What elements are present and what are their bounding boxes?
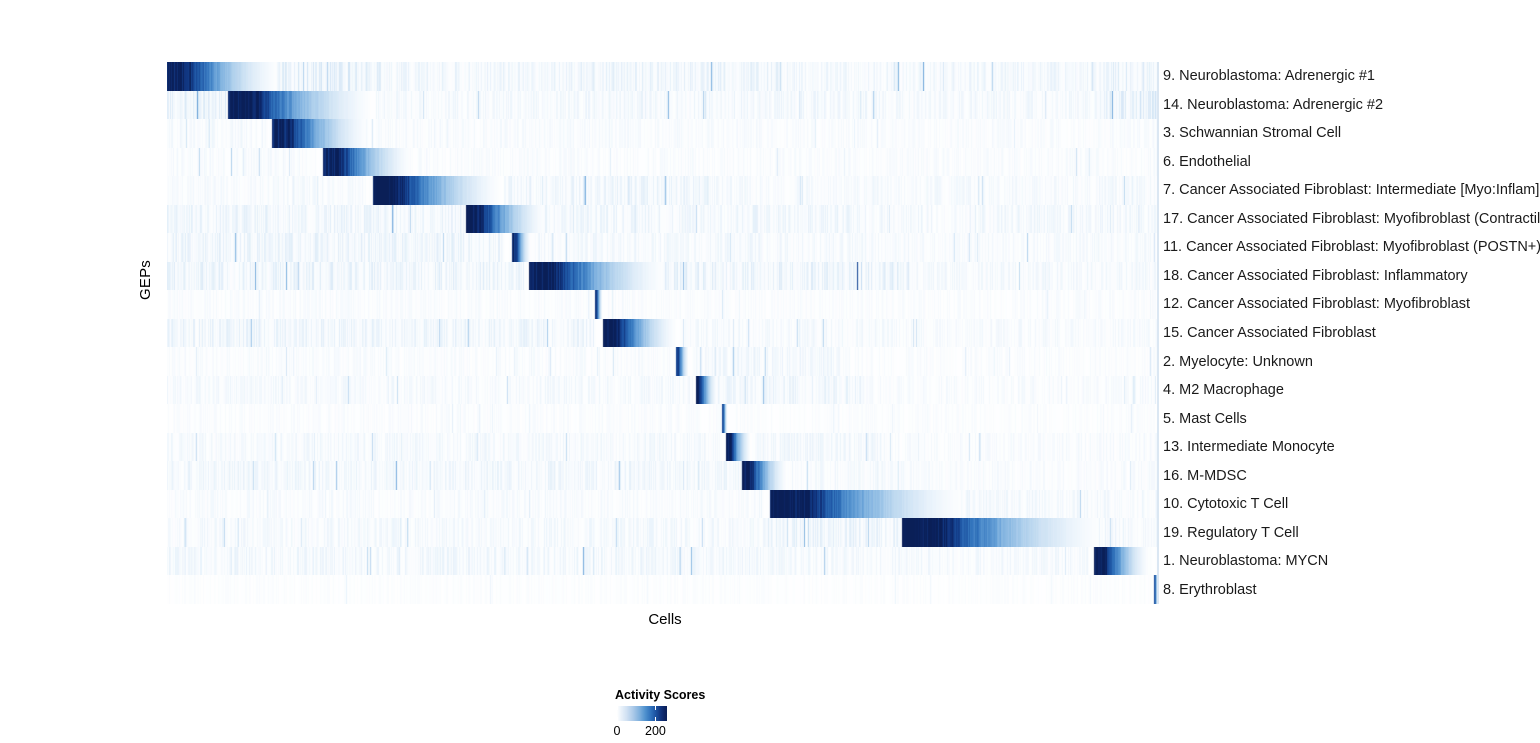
heatmap-row-cells [167,575,1158,604]
heatmap-row[interactable] [167,404,1158,433]
heatmap-row-cells [167,461,1158,490]
heatmap-row-cells [167,262,1158,291]
row-label-3: 3. Schwannian Stromal Cell [1163,126,1341,141]
heatmap-row[interactable] [167,290,1158,319]
row-label-18: 18. Cancer Associated Fibroblast: Inflam… [1163,269,1468,284]
row-label-13: 13. Intermediate Monocyte [1163,440,1335,455]
row-label-11: 11. Cancer Associated Fibroblast: Myofib… [1163,240,1540,255]
heatmap-row-cells [167,518,1158,547]
row-label-8: 8. Erythroblast [1163,583,1257,598]
colorbar-tick-label: 200 [645,724,666,738]
y-axis-title: GEPs [137,260,154,300]
heatmap-row[interactable] [167,62,1158,91]
heatmap-panel[interactable] [167,62,1158,604]
colorbar-tick [655,706,656,710]
heatmap-row[interactable] [167,233,1158,262]
heatmap-row-cells [167,433,1158,462]
heatmap-row[interactable] [167,518,1158,547]
heatmap-row[interactable] [167,461,1158,490]
heatmap-row[interactable] [167,205,1158,234]
heatmap-row-cells [167,404,1158,433]
colorbar-tick [655,717,656,721]
row-label-7: 7. Cancer Associated Fibroblast: Interme… [1163,183,1539,198]
panel-right-spine [1157,62,1159,604]
colorbar-tick [617,717,618,721]
heatmap-row-cells [167,376,1158,405]
row-label-19: 19. Regulatory T Cell [1163,526,1299,541]
heatmap-row-cells [167,319,1158,348]
row-label-15: 15. Cancer Associated Fibroblast [1163,326,1376,341]
heatmap-row-cells [167,347,1158,376]
row-label-4: 4. M2 Macrophage [1163,383,1284,398]
row-label-column: 9. Neuroblastoma: Adrenergic #114. Neuro… [1163,62,1540,604]
heatmap-row-cells [167,176,1158,205]
row-label-16: 16. M-MDSC [1163,469,1247,484]
heatmap-row-cells [167,547,1158,576]
x-axis-title: Cells [0,611,1330,628]
heatmap-row-cells [167,290,1158,319]
colorbar-gradient [617,706,667,721]
row-label-9: 9. Neuroblastoma: Adrenergic #1 [1163,69,1375,84]
row-label-12: 12. Cancer Associated Fibroblast: Myofib… [1163,297,1470,312]
row-label-5: 5. Mast Cells [1163,412,1247,427]
heatmap-row-cells [167,62,1158,91]
row-label-10: 10. Cytotoxic T Cell [1163,497,1288,512]
row-label-14: 14. Neuroblastoma: Adrenergic #2 [1163,98,1383,113]
heatmap-row[interactable] [167,376,1158,405]
heatmap-row[interactable] [167,176,1158,205]
heatmap-row-cells [167,205,1158,234]
heatmap-row[interactable] [167,347,1158,376]
row-label-6: 6. Endothelial [1163,155,1251,170]
heatmap-row[interactable] [167,490,1158,519]
heatmap-row[interactable] [167,91,1158,120]
heatmap-row[interactable] [167,547,1158,576]
row-label-2: 2. Myelocyte: Unknown [1163,355,1313,370]
heatmap-row-cells [167,148,1158,177]
heatmap-row-cells [167,91,1158,120]
heatmap-figure: GEPs 9. Neuroblastoma: Adrenergic #114. … [0,0,1540,743]
colorbar-tick [617,706,618,710]
row-label-1: 1. Neuroblastoma: MYCN [1163,554,1328,569]
colorbar-title: Activity Scores [615,688,705,702]
heatmap-row[interactable] [167,119,1158,148]
heatmap-row[interactable] [167,148,1158,177]
heatmap-row[interactable] [167,262,1158,291]
heatmap-row-cells [167,233,1158,262]
heatmap-row[interactable] [167,319,1158,348]
heatmap-row[interactable] [167,575,1158,604]
heatmap-row[interactable] [167,433,1158,462]
colorbar-legend: Activity Scores 0200 [560,686,820,743]
heatmap-row-cells [167,119,1158,148]
heatmap-row-cells [167,490,1158,519]
row-label-17: 17. Cancer Associated Fibroblast: Myofib… [1163,212,1540,227]
colorbar-tick-label: 0 [614,724,621,738]
